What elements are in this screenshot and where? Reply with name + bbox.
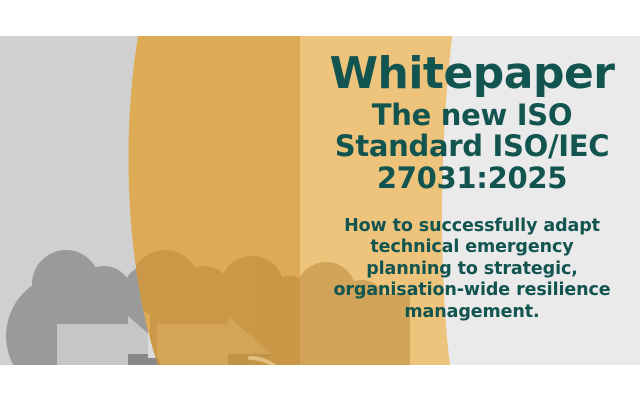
description-line-1: How to successfully adapt (318, 216, 626, 238)
page-subtitle: The new ISO Standard ISO/IEC 27031:2025 (318, 100, 626, 194)
subtitle-line-1: The new ISO (318, 100, 626, 131)
subtitle-line-3: 27031:2025 (318, 163, 626, 194)
whitepaper-banner: Whitepaper The new ISO Standard ISO/IEC … (0, 36, 640, 365)
description-line-4: organisation-wide resilience (318, 280, 626, 302)
page-description: How to successfully adapt technical emer… (318, 216, 626, 324)
description-line-2: technical emergency (318, 237, 626, 259)
subtitle-line-2: Standard ISO/IEC (318, 131, 626, 162)
page-title: Whitepaper (318, 52, 626, 97)
description-line-3: planning to strategic, (318, 259, 626, 281)
banner-text-block: Whitepaper The new ISO Standard ISO/IEC … (0, 36, 640, 365)
description-line-5: management. (318, 302, 626, 324)
